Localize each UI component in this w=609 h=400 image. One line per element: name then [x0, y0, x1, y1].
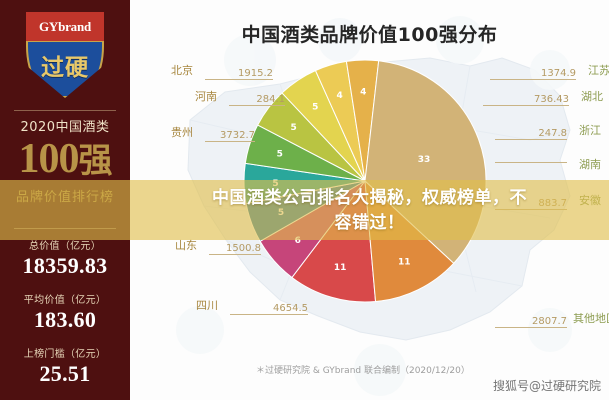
shield-badge-icon: GYbrand 过硬 — [26, 12, 104, 98]
leader-line-浙江 — [495, 139, 567, 140]
leader-value-其他地区: 2807.7 — [495, 316, 567, 327]
leader-line-湖南 — [495, 162, 567, 163]
leader-value-北京: 1915.2 — [205, 68, 273, 79]
headline-line-1: 中国酒类公司排名大揭秘，权威榜单，不 — [212, 186, 527, 211]
leader-line-北京 — [205, 79, 273, 80]
logo-latin-text: GYbrand — [26, 12, 104, 42]
leader-line-贵州 — [205, 141, 255, 142]
pie-slice-count-浙江: 5 — [312, 103, 318, 113]
sidebar-rank-suffix: 强 — [79, 141, 112, 181]
pie-slice-count-山东: 11 — [334, 263, 347, 273]
pie-slice-count-江苏: 5 — [277, 149, 283, 159]
leader-label-湖南: 湖南 — [495, 162, 567, 163]
leader-province-山东: 山东 — [175, 239, 197, 252]
sidebar-rank-number: 100 — [19, 136, 79, 182]
leader-line-湖北 — [483, 105, 569, 106]
leader-line-四川 — [230, 314, 308, 315]
stat-average-value: 平均价值（亿元） 183.60 — [0, 291, 130, 333]
pie-slice-count-四川: 11 — [398, 257, 411, 267]
leader-label-四川: 4654.5四川 — [230, 303, 308, 315]
leader-label-浙江: 247.8浙江 — [495, 128, 567, 140]
leader-value-浙江: 247.8 — [495, 128, 567, 139]
leader-label-河南: 284.1河南 — [229, 94, 285, 106]
chart-footnote: ＊过硬研究院 & GYbrand 联合编制（2020/12/20） — [256, 363, 470, 376]
leader-province-江苏: 江苏 — [588, 64, 609, 77]
leader-province-贵州: 贵州 — [171, 126, 193, 139]
leader-province-浙江: 浙江 — [579, 124, 601, 137]
leader-label-北京: 1915.2北京 — [205, 68, 273, 80]
brand-logo: GYbrand 过硬 — [0, 12, 130, 104]
headline-overlay-text: 中国酒类公司排名大揭秘，权威榜单，不 容错过！ — [130, 183, 609, 239]
sidebar-rank-count: 100强 — [0, 136, 130, 184]
leader-line-山东 — [209, 254, 261, 255]
leader-value-湖北: 736.43 — [483, 94, 569, 105]
leader-value-山东: 1500.8 — [209, 243, 261, 254]
leader-line-江苏 — [490, 79, 576, 80]
pie-slice-count-湖北: 5 — [290, 123, 296, 133]
stat-label: 平均价值（亿元） — [0, 291, 130, 306]
leader-line-其他地区 — [495, 327, 567, 328]
pie-slice-count-安徽: 4 — [360, 88, 366, 98]
stat-total-value: 总价值（亿元） 18359.83 — [0, 237, 130, 279]
stat-value: 25.51 — [0, 361, 130, 387]
leader-label-湖北: 736.43湖北 — [483, 94, 569, 106]
headline-line-2: 容错过！ — [335, 211, 405, 236]
leader-label-山东: 1500.8山东 — [209, 243, 261, 255]
leader-province-湖南: 湖南 — [579, 158, 601, 171]
sidebar-divider-top — [14, 110, 116, 111]
leader-province-河南: 河南 — [195, 90, 217, 103]
leader-value-河南: 284.1 — [229, 94, 285, 105]
screenshot-root: GYbrand 过硬 2020中国酒类 100强 品牌价值排行榜 总价值（亿元）… — [0, 0, 609, 400]
stat-value: 183.60 — [0, 307, 130, 333]
leader-province-其他地区: 其他地区 — [573, 312, 609, 325]
stat-value: 18359.83 — [0, 253, 130, 279]
leader-province-北京: 北京 — [171, 64, 193, 77]
sidebar-report-year-title: 2020中国酒类 — [0, 116, 130, 135]
stat-threshold-value: 上榜门槛（亿元） 25.51 — [0, 345, 130, 387]
logo-cn-text: 过硬 — [26, 42, 104, 98]
leader-province-四川: 四川 — [196, 299, 218, 312]
leader-label-贵州: 3732.7贵州 — [205, 130, 255, 142]
pie-slice-count-其他地区: 33 — [418, 155, 431, 165]
stat-label: 上榜门槛（亿元） — [0, 345, 130, 360]
pie-slice-count-湖南: 4 — [336, 91, 342, 101]
leader-value-贵州: 3732.7 — [205, 130, 255, 141]
leader-label-其他地区: 2807.7其他地区 — [495, 316, 567, 328]
leader-line-河南 — [229, 105, 285, 106]
leader-value-江苏: 1374.9 — [490, 68, 576, 79]
chart-title: 中国酒类品牌价值100强分布 — [130, 20, 609, 47]
leader-province-湖北: 湖北 — [581, 90, 603, 103]
leader-label-江苏: 1374.9江苏 — [490, 68, 576, 80]
watermark-text: 搜狐号@过硬研究院 — [493, 377, 601, 394]
leader-value-四川: 4654.5 — [230, 303, 308, 314]
